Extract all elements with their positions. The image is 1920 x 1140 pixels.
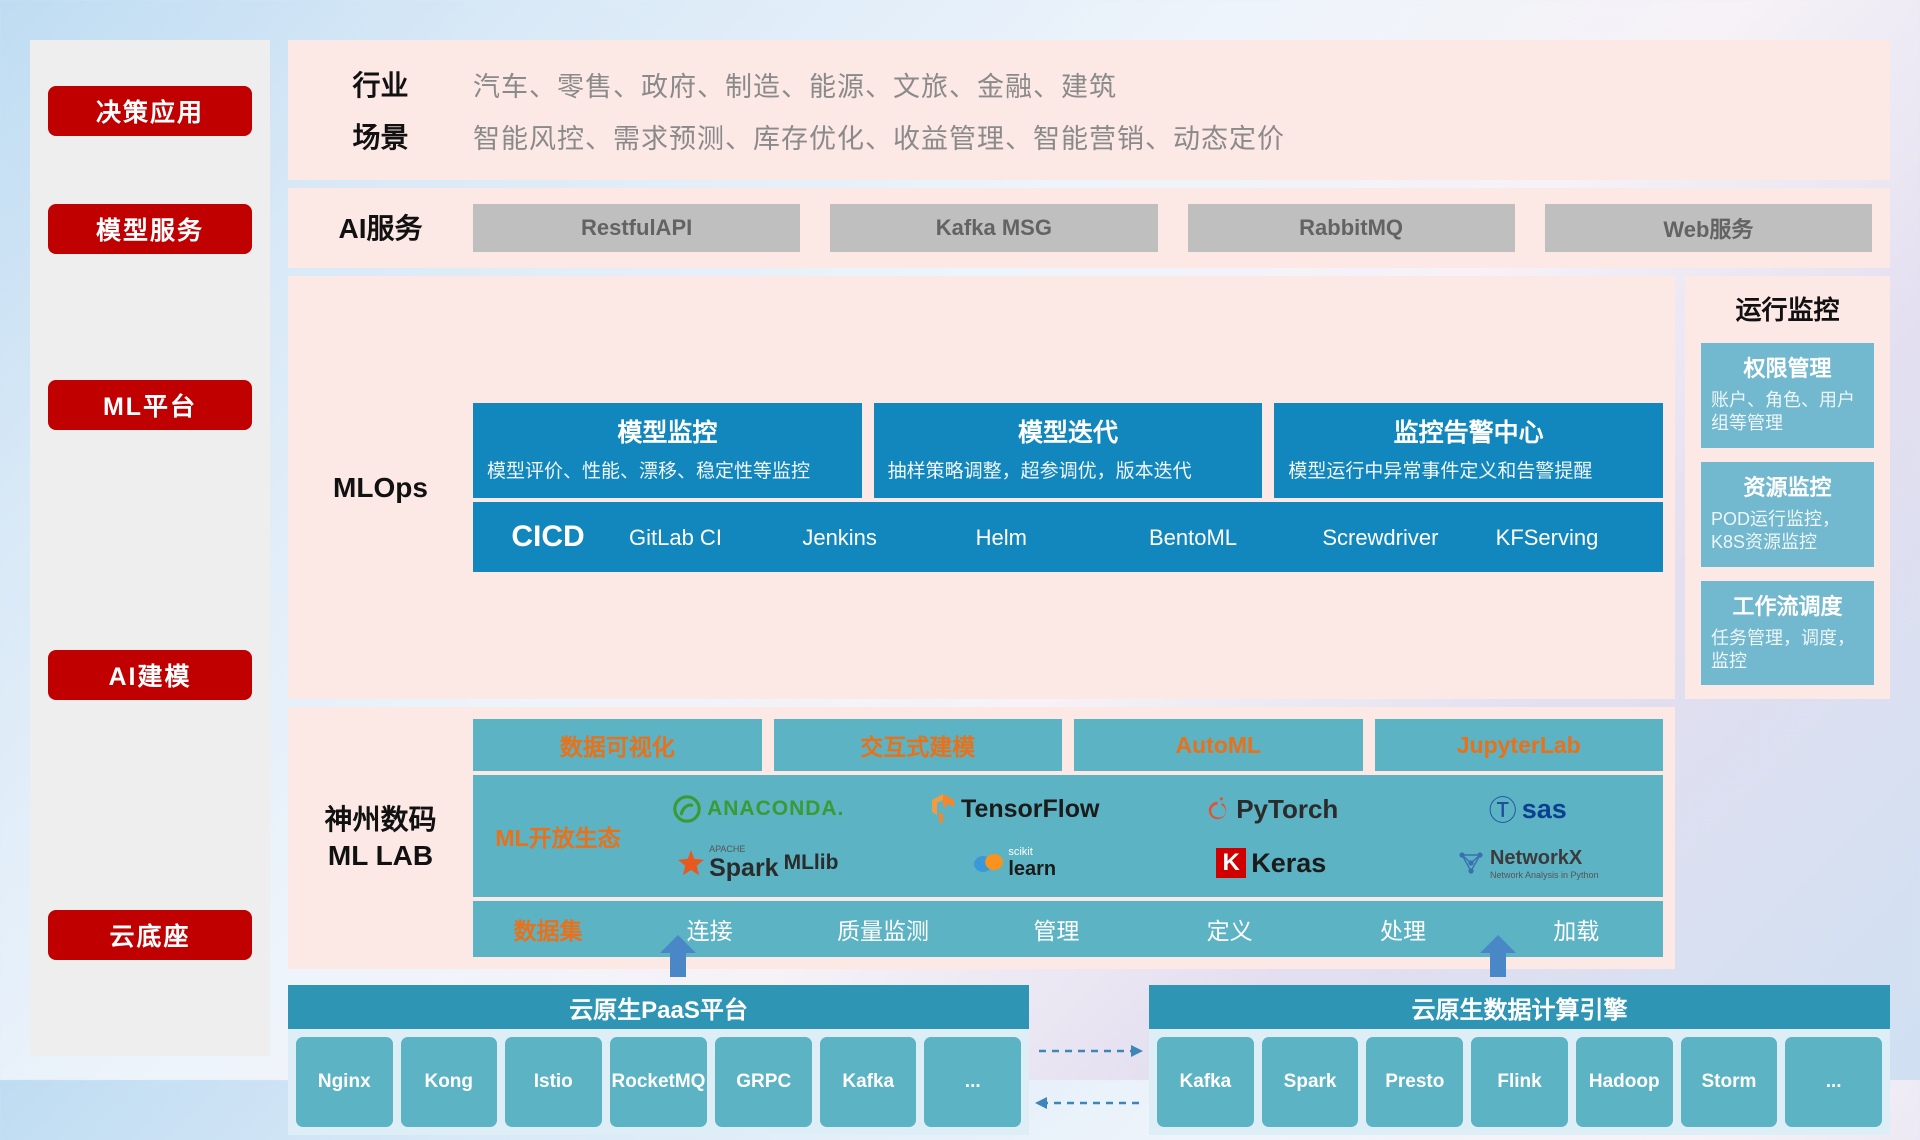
compute-engine: 云原生数据计算引擎 Kafka Spark Presto Flink Hadoo… [1149,985,1890,1135]
spark-star-icon [678,850,704,876]
rail-item-label: AI建模 [108,657,191,693]
paas-pill-istio[interactable]: Istio [505,1037,602,1127]
rail-item-label: 模型服务 [96,211,204,247]
industry-value: 汽车、零售、政府、制造、能源、文旅、金融、建筑 [473,65,1117,104]
scenario-row: 场景 智能风控、需求预测、库存优化、收益管理、智能营销、动态定价 [288,110,1890,162]
cicd-item-helm[interactable]: Helm [970,524,1143,552]
mlops-card-model-iteration[interactable]: 模型迭代 抽样策略调整，超参调优，版本迭代 [874,403,1263,499]
tensorflow-icon [930,793,956,825]
keras-mark-icon: K [1216,848,1246,878]
paas-pill-nginx[interactable]: Nginx [296,1037,393,1127]
cicd-items: GitLab CI Jenkins Helm BentoML Screwdriv… [623,524,1663,552]
pytorch-icon [1204,794,1231,825]
mlops-body: 模型监控 模型评价、性能、漂移、稳定性等监控 模型迭代 抽样策略调整，超参调优，… [473,403,1675,573]
card-title: 模型监控 [487,413,848,449]
sas-swoosh-icon: Ⓣ [1489,789,1517,829]
compute-pill-spark[interactable]: Spark [1262,1037,1359,1127]
cicd-item-screwdriver[interactable]: Screwdriver [1316,524,1489,552]
cicd-item-jenkins[interactable]: Jenkins [796,524,969,552]
rail-item-label: 云底座 [109,917,190,953]
rail-item-label: ML平台 [103,387,197,423]
spark-label: Spark [709,854,778,882]
rail-item-decision-app[interactable]: 决策应用 [48,86,252,136]
arrow-up-paas-icon [658,935,698,977]
dataset-item-connect[interactable]: 连接 [623,912,796,946]
mllab-label-line2: ML LAB [288,838,473,874]
paas-pill-more[interactable]: ... [924,1037,1021,1127]
spark-apache-label: APACHE [709,844,778,854]
stack: 行业 汽车、零售、政府、制造、能源、文旅、金融、建筑 场景 智能风控、需求预测、… [288,40,1890,1056]
mllab-band: 神州数码 ML LAB 数据可视化 交互式建模 AutoML JupyterLa… [288,707,1675,969]
dataset-item-quality[interactable]: 质量监测 [796,912,969,946]
card-title: 监控告警中心 [1288,413,1649,449]
networkx-sub-label: Network Analysis in Python [1490,870,1599,880]
keras-logo[interactable]: K Keras [1216,848,1326,879]
ai-service-chip-kafka-msg[interactable]: Kafka MSG [830,204,1157,252]
arrow-up-compute-icon [1478,935,1518,977]
ai-service-chip-web-service[interactable]: Web服务 [1545,204,1872,252]
paas-platform: 云原生PaaS平台 Nginx Kong Istio RocketMQ GRPC… [288,985,1029,1135]
cicd-title: CICD [473,520,623,554]
mlops-card-model-monitoring[interactable]: 模型监控 模型评价、性能、漂移、稳定性等监控 [473,403,862,499]
dataset-label: 数据集 [473,912,623,946]
ecosystem-label: ML开放生态 [483,819,633,853]
networkx-label: NetworkX [1490,847,1582,869]
cloud-base-band: 云原生PaaS平台 Nginx Kong Istio RocketMQ GRPC… [288,985,1890,1135]
tool-automl[interactable]: AutoML [1074,719,1363,771]
monitoring-card-resource[interactable]: 资源监控 POD运行监控，K8S资源监控 [1701,462,1874,567]
mllib-label: MLlib [784,851,839,875]
anaconda-logo[interactable]: ANACONDA. [672,794,844,824]
anaconda-label: ANACONDA. [707,797,844,821]
compute-title: 云原生数据计算引擎 [1149,985,1890,1029]
pytorch-logo[interactable]: PyTorch [1204,794,1338,825]
compute-pill-kafka[interactable]: Kafka [1157,1037,1254,1127]
scikit-learn-logo[interactable]: scikit learn [973,846,1056,881]
sas-label: sas [1522,794,1567,825]
card-title: 模型迭代 [888,413,1249,449]
tensorflow-logo[interactable]: TensorFlow [930,793,1099,825]
compute-pill-flink[interactable]: Flink [1471,1037,1568,1127]
mllab-and-monitoring: 神州数码 ML LAB 数据可视化 交互式建模 AutoML JupyterLa… [288,707,1890,969]
card-desc: 抽样策略调整，超参调优，版本迭代 [888,459,1249,485]
mlops-label: MLOps [288,470,473,505]
spark-mllib-logo[interactable]: APACHE Spark MLlib [678,844,838,883]
ai-service-chip-restfulapi[interactable]: RestfulAPI [473,204,800,252]
rail-item-model-service[interactable]: 模型服务 [48,204,252,254]
card-desc: 模型运行中异常事件定义和告警提醒 [1288,459,1649,485]
mllab-tools: 数据可视化 交互式建模 AutoML JupyterLab [473,719,1663,771]
keras-label: Keras [1251,848,1326,879]
scikit-learn-icon [973,850,1003,876]
mlops-band: MLOps 模型监控 模型评价、性能、漂移、稳定性等监控 模型迭代 抽样策略调整… [288,276,1675,699]
rail-item-ai-modeling[interactable]: AI建模 [48,650,252,700]
scenario-label: 场景 [288,116,473,156]
mlops-and-monitoring: MLOps 模型监控 模型评价、性能、漂移、稳定性等监控 模型迭代 抽样策略调整… [288,276,1890,699]
sklearn-wordmark: scikit learn [1008,846,1056,881]
card-desc: POD运行监控，K8S资源监控 [1711,508,1864,555]
paas-pills: Nginx Kong Istio RocketMQ GRPC Kafka ... [288,1029,1029,1135]
ai-service-chips: RestfulAPI Kafka MSG RabbitMQ Web服务 [473,204,1890,252]
monitoring-card-permission[interactable]: 权限管理 账户、角色、用户组等管理 [1701,343,1874,448]
paas-pill-rocketmq[interactable]: RocketMQ [610,1037,708,1127]
monitoring-title: 运行监控 [1701,290,1874,327]
layer-rail: 决策应用 模型服务 ML平台 AI建模 云底座 [30,40,270,1056]
compute-pill-hadoop[interactable]: Hadoop [1576,1037,1673,1127]
tool-interactive-modeling[interactable]: 交互式建模 [774,719,1063,771]
pytorch-label: PyTorch [1236,794,1338,825]
cicd-item-gitlab-ci[interactable]: GitLab CI [623,524,796,552]
business-rows: 行业 汽车、零售、政府、制造、能源、文旅、金融、建筑 场景 智能风控、需求预测、… [288,58,1890,162]
industry-label: 行业 [288,64,473,104]
rail-item-ml-platform[interactable]: ML平台 [48,380,252,430]
paas-pill-kong[interactable]: Kong [401,1037,498,1127]
mllab-label-line1: 神州数码 [288,802,473,838]
card-title: 权限管理 [1711,351,1864,383]
sklearn-bottom-label: learn [1008,858,1056,880]
cicd-item-bentoml[interactable]: BentoML [1143,524,1316,552]
networkx-wordmark: NetworkX Network Analysis in Python [1490,847,1599,880]
paas-pill-grpc[interactable]: GRPC [715,1037,812,1127]
industry-row: 行业 汽车、零售、政府、制造、能源、文旅、金融、建筑 [288,58,1890,110]
networkx-logo[interactable]: NetworkX Network Analysis in Python [1457,847,1599,880]
dataset-item-define[interactable]: 定义 [1143,912,1316,946]
compute-pill-presto[interactable]: Presto [1366,1037,1463,1127]
card-desc: 模型评价、性能、漂移、稳定性等监控 [487,459,848,485]
mllab-label: 神州数码 ML LAB [288,802,473,875]
rail-item-label: 决策应用 [96,93,204,129]
card-title: 资源监控 [1711,470,1864,502]
mlops-cards: 模型监控 模型评价、性能、漂移、稳定性等监控 模型迭代 抽样策略调整，超参调优，… [473,403,1663,499]
sklearn-top-label: scikit [1008,846,1056,858]
dataset-item-process[interactable]: 处理 [1316,912,1489,946]
ai-service-label: AI服务 [288,211,473,246]
ecosystem-logos: ANACONDA. TensorFlow PyTorch [633,783,1653,889]
ai-service-band: AI服务 RestfulAPI Kafka MSG RabbitMQ Web服务 [288,188,1890,268]
scenario-value: 智能风控、需求预测、库存优化、收益管理、智能营销、动态定价 [473,117,1285,156]
ai-service-chip-rabbitmq[interactable]: RabbitMQ [1188,204,1515,252]
bidirectional-link [1029,985,1149,1135]
monitoring-column: 运行监控 权限管理 账户、角色、用户组等管理 资源监控 POD运行监控，K8S资… [1685,276,1890,699]
monitoring-card-workflow[interactable]: 工作流调度 任务管理，调度，监控 [1701,581,1874,686]
tensorflow-label: TensorFlow [961,795,1099,824]
compute-pill-storm[interactable]: Storm [1681,1037,1778,1127]
spark-wordmark: APACHE Spark [709,844,778,883]
mllab-ecosystem: ML开放生态 ANACONDA. TensorFlow [473,775,1663,897]
mlops-card-alert-center[interactable]: 监控告警中心 模型运行中异常事件定义和告警提醒 [1274,403,1663,499]
architecture-diagram: 决策应用 模型服务 ML平台 AI建模 云底座 行业 汽车、零售、政府、制造、能… [0,0,1920,1080]
networkx-graph-icon [1457,849,1485,877]
paas-pill-kafka[interactable]: Kafka [820,1037,917,1127]
tool-data-visualization[interactable]: 数据可视化 [473,719,762,771]
dashed-arrows-icon [1029,985,1149,1135]
card-title: 工作流调度 [1711,589,1864,621]
compute-pill-more[interactable]: ... [1785,1037,1882,1127]
compute-pills: Kafka Spark Presto Flink Hadoop Storm ..… [1149,1029,1890,1135]
sas-logo[interactable]: Ⓣ sas [1489,789,1567,829]
card-desc: 账户、角色、用户组等管理 [1711,389,1864,436]
rail-item-cloud-base[interactable]: 云底座 [48,910,252,960]
anaconda-icon [672,794,702,824]
mllab-body: 数据可视化 交互式建模 AutoML JupyterLab ML开放生态 ANA… [473,719,1675,957]
tool-jupyterlab[interactable]: JupyterLab [1375,719,1664,771]
cicd-row: CICD GitLab CI Jenkins Helm BentoML Scre… [473,502,1663,572]
card-desc: 任务管理，调度，监控 [1711,627,1864,674]
business-band: 行业 汽车、零售、政府、制造、能源、文旅、金融、建筑 场景 智能风控、需求预测、… [288,40,1890,180]
dataset-item-manage[interactable]: 管理 [970,912,1143,946]
paas-title: 云原生PaaS平台 [288,985,1029,1029]
cicd-item-kfserving[interactable]: KFServing [1490,524,1663,552]
